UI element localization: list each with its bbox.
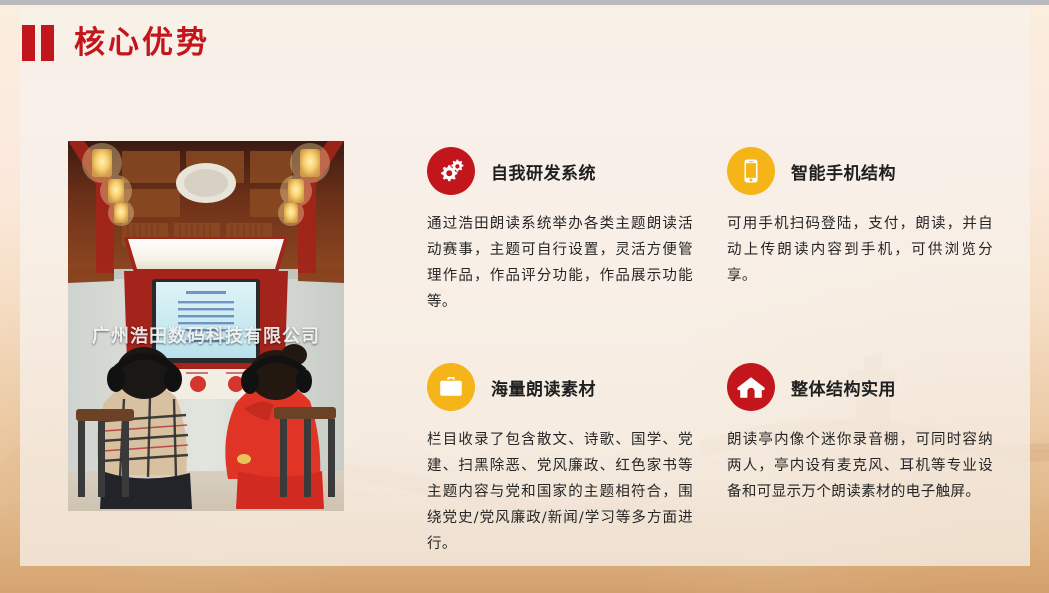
feature-row-2: 海量朗读素材 栏目收录了包含散文、诗歌、国学、党建、扫黑除恶、党风廉政、红色家书… xyxy=(427,359,1027,557)
feature-header: 自我研发系统 xyxy=(427,143,693,199)
feature-header: 智能手机结构 xyxy=(727,143,993,199)
feature-body: 栏目收录了包含散文、诗歌、国学、党建、扫黑除恶、党风廉政、红色家书等主题内容与党… xyxy=(427,427,693,557)
feature-title: 整体结构实用 xyxy=(791,375,896,400)
top-edge-strip xyxy=(0,0,1049,5)
feature-header: 海量朗读素材 xyxy=(427,359,693,415)
feature-body: 通过浩田朗读系统举办各类主题朗读活动赛事，主题可自行设置，灵活方便管理作品，作品… xyxy=(427,211,693,315)
gears-icon xyxy=(427,147,475,195)
feature-body: 朗读亭内像个迷你录音棚，可同时容纳两人，亭内设有麦克风、耳机等专业设备和可显示万… xyxy=(727,427,993,505)
briefcase-icon xyxy=(427,363,475,411)
feature-row-1: 自我研发系统 通过浩田朗读系统举办各类主题朗读活动赛事，主题可自行设置，灵活方便… xyxy=(427,143,1027,315)
page-title-text: 核心优势 xyxy=(74,28,210,59)
slide-canvas: 核心优势 xyxy=(0,0,1049,593)
feature-card-practical-overall-structure: 整体结构实用 朗读亭内像个迷你录音棚，可同时容纳两人，亭内设有麦克风、耳机等专业… xyxy=(727,359,1027,557)
booth-photo: 广州浩田数码科技有限公司 xyxy=(68,141,344,511)
feature-card-smart-phone-structure: 智能手机结构 可用手机扫码登陆，支付，朗读，并自动上传朗读内容到手机，可供浏览分… xyxy=(727,143,1027,315)
house-icon xyxy=(727,363,775,411)
smartphone-icon xyxy=(727,147,775,195)
feature-header: 整体结构实用 xyxy=(727,359,993,415)
title-accent-bar-2 xyxy=(41,25,54,61)
feature-card-massive-reading-material: 海量朗读素材 栏目收录了包含散文、诗歌、国学、党建、扫黑除恶、党风廉政、红色家书… xyxy=(427,359,727,557)
feature-body: 可用手机扫码登陆，支付，朗读，并自动上传朗读内容到手机，可供浏览分享。 xyxy=(727,211,993,289)
feature-grid: 自我研发系统 通过浩田朗读系统举办各类主题朗读活动赛事，主题可自行设置，灵活方便… xyxy=(427,143,1027,557)
feature-title: 自我研发系统 xyxy=(491,159,596,184)
title-accent-bar-1 xyxy=(22,25,35,61)
feature-title: 智能手机结构 xyxy=(791,159,896,184)
title-accent-bars xyxy=(22,25,54,61)
feature-title: 海量朗读素材 xyxy=(491,375,596,400)
feature-card-self-developed-system: 自我研发系统 通过浩田朗读系统举办各类主题朗读活动赛事，主题可自行设置，灵活方便… xyxy=(427,143,727,315)
page-title: 核心优势 xyxy=(22,20,210,66)
